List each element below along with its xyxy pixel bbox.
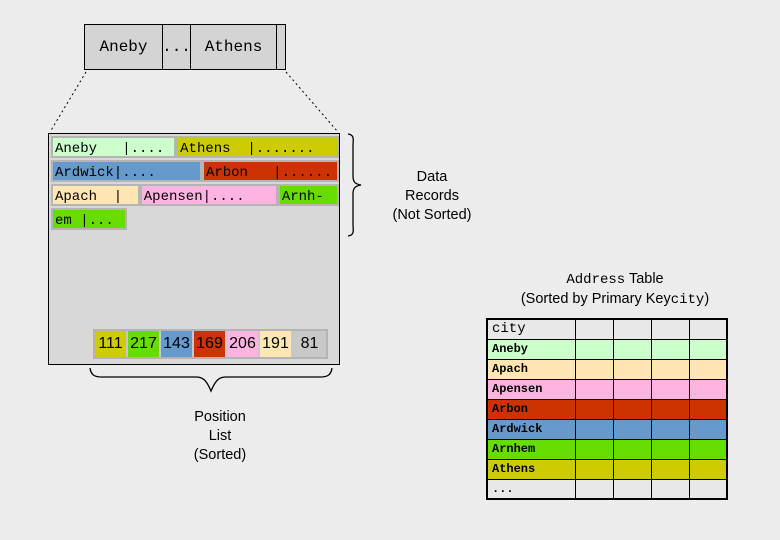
position-list-item: 191 (260, 331, 293, 357)
address-table-cell-blank (613, 439, 651, 459)
data-record: Ardwick|.... (51, 160, 202, 182)
data-record: Apensen|.... (140, 184, 278, 206)
position-list-item: 81 (293, 331, 326, 357)
address-table-row: Apensen (487, 379, 727, 399)
address-table-cell-blank (689, 339, 727, 359)
address-table-cell-city: Ardwick (487, 419, 575, 439)
data-record: Arbon |...... (202, 160, 339, 182)
data-record-row: Apach |Apensen|....Arnh- (51, 184, 339, 206)
address-table-cell-blank (575, 379, 613, 399)
address-table-header-row: city (487, 319, 727, 339)
address-table-row: Apach (487, 359, 727, 379)
address-table-cell-city: Apach (487, 359, 575, 379)
data-records-label: Data Records (Not Sorted) (372, 168, 492, 225)
address-table-cell-blank (575, 359, 613, 379)
position-list-label-line2: List (150, 427, 290, 446)
address-table-cell-city: Arnhem (487, 439, 575, 459)
address-table-cell-city: Aneby (487, 339, 575, 359)
address-table-cell-blank (651, 419, 689, 439)
data-record: em |... (51, 208, 127, 230)
address-table-row: Athens (487, 459, 727, 479)
address-table-row: Arnhem (487, 439, 727, 459)
position-list-label: Position List (Sorted) (150, 408, 290, 465)
address-table-cell-blank (575, 339, 613, 359)
address-table-cell-blank (651, 359, 689, 379)
address-table-cell-city: Arbon (487, 399, 575, 419)
address-table-cell-city: ... (487, 479, 575, 499)
data-records-container: Aneby |....Athens |.......Ardwick|....Ar… (48, 133, 340, 365)
address-table-title-sans-sorted: (Sorted by Primary Key (521, 291, 671, 307)
address-table-cell-blank (689, 479, 727, 499)
address-table-body: cityAnebyApachApensenArbonArdwickArnhemA… (487, 319, 727, 499)
address-table-cell-blank (613, 359, 651, 379)
address-table-cell-blank (613, 339, 651, 359)
index-cell-empty (277, 25, 285, 69)
data-record: Aneby |.... (51, 136, 176, 158)
address-table-title: Address Table (Sorted by Primary Keycity… (470, 270, 760, 310)
index-cell-ellipsis: ... (163, 25, 191, 69)
data-records-area: Aneby |....Athens |.......Ardwick|....Ar… (49, 134, 339, 232)
address-table-cell-blank (651, 399, 689, 419)
address-table-cell-blank (651, 459, 689, 479)
address-table-cell-blank (689, 459, 727, 479)
position-list-item: 169 (194, 331, 227, 357)
address-table-title-line1: Address Table (470, 270, 760, 290)
address-table-cell-blank (575, 419, 613, 439)
address-table-cell-blank (613, 419, 651, 439)
position-list-item: 143 (161, 331, 194, 357)
address-table-cell-blank (575, 439, 613, 459)
address-table-cell-blank (575, 479, 613, 499)
index-cell-last: Athens (191, 25, 277, 69)
address-table-cell-blank (689, 359, 727, 379)
data-record: Athens |....... (176, 136, 339, 158)
address-table-header-blank (613, 319, 651, 339)
data-record-row: em |... (51, 208, 339, 230)
address-table-cell-blank (575, 459, 613, 479)
address-table-header-blank (651, 319, 689, 339)
address-table-cell-city: Apensen (487, 379, 575, 399)
address-table-cell-blank (575, 399, 613, 419)
position-list-label-line1: Position (150, 408, 290, 427)
position-list: 11121714316920619181 (93, 329, 328, 359)
data-records-label-line3: (Not Sorted) (372, 206, 492, 225)
position-list-item: 206 (227, 331, 260, 357)
address-table-cell-blank (651, 479, 689, 499)
position-list-label-line3: (Sorted) (150, 446, 290, 465)
address-table-cell-blank (651, 439, 689, 459)
data-record: Apach | (51, 184, 140, 206)
address-table-row: Ardwick (487, 419, 727, 439)
address-table-cell-blank (689, 399, 727, 419)
address-table-cell-blank (651, 379, 689, 399)
address-table-title-sans-table: Table (625, 271, 663, 287)
position-list-item: 111 (95, 331, 128, 357)
position-list-item: 217 (128, 331, 161, 357)
address-table-title-line2: (Sorted by Primary Keycity) (470, 290, 760, 310)
data-records-label-line2: Records (372, 187, 492, 206)
address-table-cell-blank (689, 439, 727, 459)
address-table-title-mono-address: Address (566, 272, 625, 288)
address-table-cell-blank (613, 399, 651, 419)
address-table-cell-blank (613, 459, 651, 479)
data-record-row: Aneby |....Athens |....... (51, 136, 339, 158)
address-table-header-blank (689, 319, 727, 339)
address-table-header-blank (575, 319, 613, 339)
index-cell-first: Aneby (85, 25, 163, 69)
address-table-cell-blank (689, 419, 727, 439)
address-table-header-city: city (487, 319, 575, 339)
data-record: Arnh- (278, 184, 339, 206)
position-list-brace (88, 366, 334, 398)
address-table-row: Aneby (487, 339, 727, 359)
address-table-cell-blank (651, 339, 689, 359)
address-table-cell-blank (689, 379, 727, 399)
address-table-cell-blank (613, 379, 651, 399)
address-table-cell-blank (613, 479, 651, 499)
address-table-cell-city: Athens (487, 459, 575, 479)
address-table-row: ... (487, 479, 727, 499)
data-records-label-line1: Data (372, 168, 492, 187)
data-record-row: Ardwick|....Arbon |...... (51, 160, 339, 182)
address-table-title-sans-paren: ) (704, 291, 709, 307)
address-table-row: Arbon (487, 399, 727, 419)
index-box: Aneby ... Athens (84, 24, 286, 70)
address-table-title-mono-city: city (671, 292, 705, 308)
address-table: cityAnebyApachApensenArbonArdwickArnhemA… (486, 318, 728, 500)
data-records-brace (344, 132, 368, 238)
